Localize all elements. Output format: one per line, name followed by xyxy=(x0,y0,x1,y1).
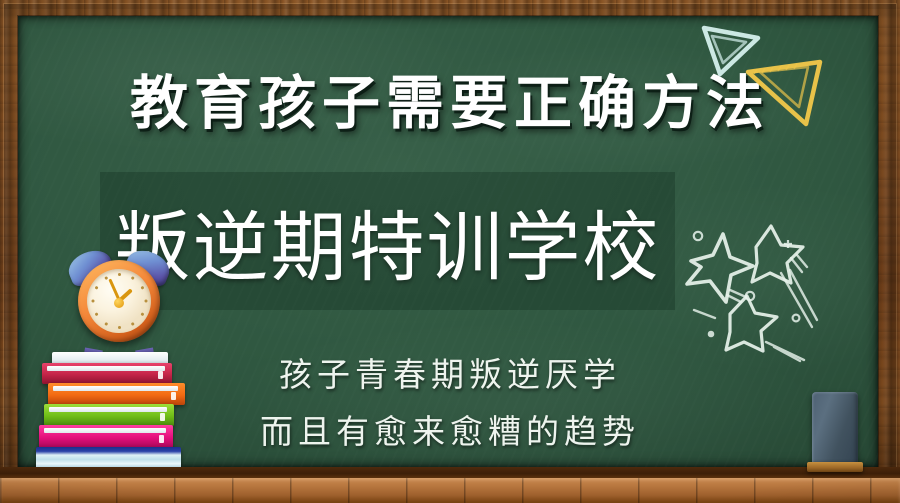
book-orange xyxy=(48,383,185,405)
page-title: 教育孩子需要正确方法 xyxy=(0,56,900,140)
blackboard-eraser xyxy=(812,392,858,466)
clock-center-pivot xyxy=(114,298,124,308)
book-pink xyxy=(39,425,173,448)
book-green xyxy=(44,404,174,426)
eraser-felt-base xyxy=(807,462,863,472)
clock-face xyxy=(87,269,151,333)
clock-bezel xyxy=(78,260,160,342)
alarm-clock-icon xyxy=(70,248,168,356)
book-red xyxy=(42,363,172,384)
book-stack xyxy=(28,352,198,480)
chalk-tray-ledge xyxy=(0,478,900,503)
clock-and-books-illustration xyxy=(28,248,198,480)
poster-canvas: 教育孩子需要正确方法 叛逆期特训学校 孩子青春期叛逆厌学 而且有愈来愈糟的趋势 xyxy=(0,0,900,503)
